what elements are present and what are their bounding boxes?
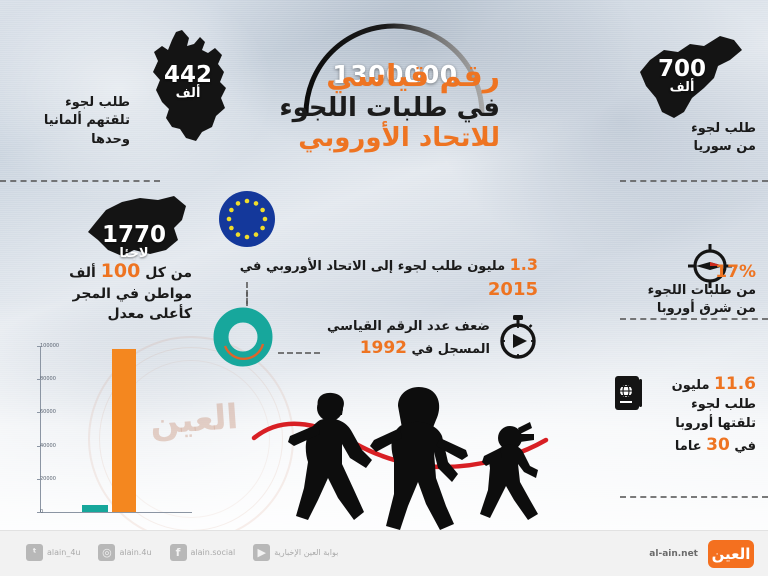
stopwatch-icon [496,314,540,364]
double-record-year: 1992 [360,338,407,358]
thirty-years-block: 11.6 مليون طلب لجوء تلقتها أوروبا في 30 … [644,372,756,457]
connector-donut [246,292,248,306]
hungary-line1: من كل 100 ألف [6,258,192,285]
germany-unit: ألف [142,86,234,101]
thirty-years-line2: طلب لجوء [644,396,756,414]
eu-total-number: 1.3 [510,255,538,274]
twitter-icon: ᵗ [26,544,43,561]
instagram-icon: ◎ [98,544,115,561]
infographic-page: العين [0,0,768,576]
germany-line1: طلب لجوء [8,94,130,112]
thirty-years-line4: في 30 عاما [644,433,756,457]
bar-chart: 020000400006000080000100000 [4,336,200,526]
hungary-line2: مواطن في المجر [6,285,192,305]
hungary-number: 1770 [78,222,190,248]
hungary-line1-number: 100 [101,260,141,282]
footer: ᵗalain_4u◎alain.4ufalain.social▶بوابة ال… [0,530,768,576]
passport-icon [612,374,644,418]
site-url: al-ain.net [649,549,698,559]
facebook-icon: f [170,544,187,561]
chart-y-tickmark [37,379,41,380]
separator-right-1 [620,180,768,182]
separator-right-3 [620,496,768,498]
social-link-twitter[interactable]: ᵗalain_4u [26,544,80,561]
brand: al-ain.net العين [649,540,754,568]
double-record-line2: المسجل في 1992 [320,336,490,360]
headline: رقم قياسي في طلبات اللجوء للاتحاد الأورو… [250,60,500,153]
separator-right-2 [620,318,768,320]
hungary-line1-pre: من كل [145,265,192,281]
thirty-years-line4-pre: في [734,439,756,454]
chart-bar-1992 [82,505,108,512]
chart-x-axis [40,512,192,513]
eu-total-text: مليون طلب لجوء إلى الاتحاد الأوروبي في [240,259,505,274]
double-record-line2-pre: المسجل في [412,342,490,357]
eu-flag-icon [218,190,276,248]
germany-block: طلب لجوء تلقتهم ألمانيا وحدها [8,94,130,149]
thirty-years-line4-post: عاما [675,439,702,454]
connector-double-record [278,352,320,354]
chart-y-tickmark [37,346,41,347]
headline-line2: في طلبات اللجوء [250,94,500,124]
eastern-europe-percent: 17% [604,262,756,282]
social-links: ᵗalain_4u◎alain.4ufalain.social▶بوابة ال… [26,544,350,561]
chart-y-tickmark [37,446,41,447]
al-ain-logo: العين [708,540,754,568]
headline-line3: للاتحاد الأوروبي [250,124,500,154]
eastern-europe-block: 17% من طلبات اللجوء من شرق أوروبا [604,262,756,319]
thirty-years-years: 30 [706,435,730,455]
social-handle: بوابة العين الإخبارية [274,548,338,557]
hungary-line1-post: ألف [69,265,96,281]
eu-total-year: 2015 [488,279,538,300]
syria-block: طلب لجوء من سوريا [628,120,756,157]
hungary-line3: كأعلى معدل [6,305,192,325]
syria-line1: طلب لجوء [628,120,756,138]
double-record-line1: ضعف عدد الرقم القياسي [320,318,490,336]
hungary-block: من كل 100 ألف مواطن في المجر كأعلى معدل [6,258,192,325]
chart-y-axis [40,346,41,512]
donut-chart-icon [212,306,274,368]
social-handle: alain.4u [119,548,151,557]
social-handle: alain_4u [47,548,80,557]
germany-map-caption: 442 ألف [142,62,234,101]
separator-left-1 [0,180,160,182]
double-record-block: ضعف عدد الرقم القياسي المسجل في 1992 [320,318,490,361]
syria-number: 700 [634,56,730,82]
chart-bar-2015 [112,349,136,512]
chart-y-tickmark [37,512,41,513]
youtube-icon: ▶ [253,544,270,561]
germany-line3: وحدها [8,131,130,149]
social-handle: alain.social [191,548,236,557]
thirty-years-line3: تلقتها أوروبا [644,415,756,433]
hungary-map-caption: 1770 لاجئا [78,222,190,261]
eastern-europe-line1: من طلبات اللجوء [604,282,756,300]
eastern-europe-line2: من شرق أوروبا [604,300,756,318]
social-link-facebook[interactable]: falain.social [170,544,236,561]
refugee-family-silhouette [246,382,566,532]
thirty-years-unit: مليون [672,378,710,393]
chart-y-tickmark [37,479,41,480]
thirty-years-line1: 11.6 مليون [644,372,756,396]
syria-unit: ألف [634,80,730,95]
chart-y-tickmark [37,412,41,413]
syria-line2: من سوريا [628,138,756,156]
headline-line1: رقم قياسي [250,60,500,94]
thirty-years-number: 11.6 [714,374,756,394]
social-link-youtube[interactable]: ▶بوابة العين الإخبارية [253,544,338,561]
eu-total-block: 1.3 مليون طلب لجوء إلى الاتحاد الأوروبي … [222,254,538,302]
germany-number: 442 [142,62,234,88]
syria-map-caption: 700 ألف [634,56,730,95]
social-link-instagram[interactable]: ◎alain.4u [98,544,151,561]
germany-line2: تلقتهم ألمانيا [8,112,130,130]
